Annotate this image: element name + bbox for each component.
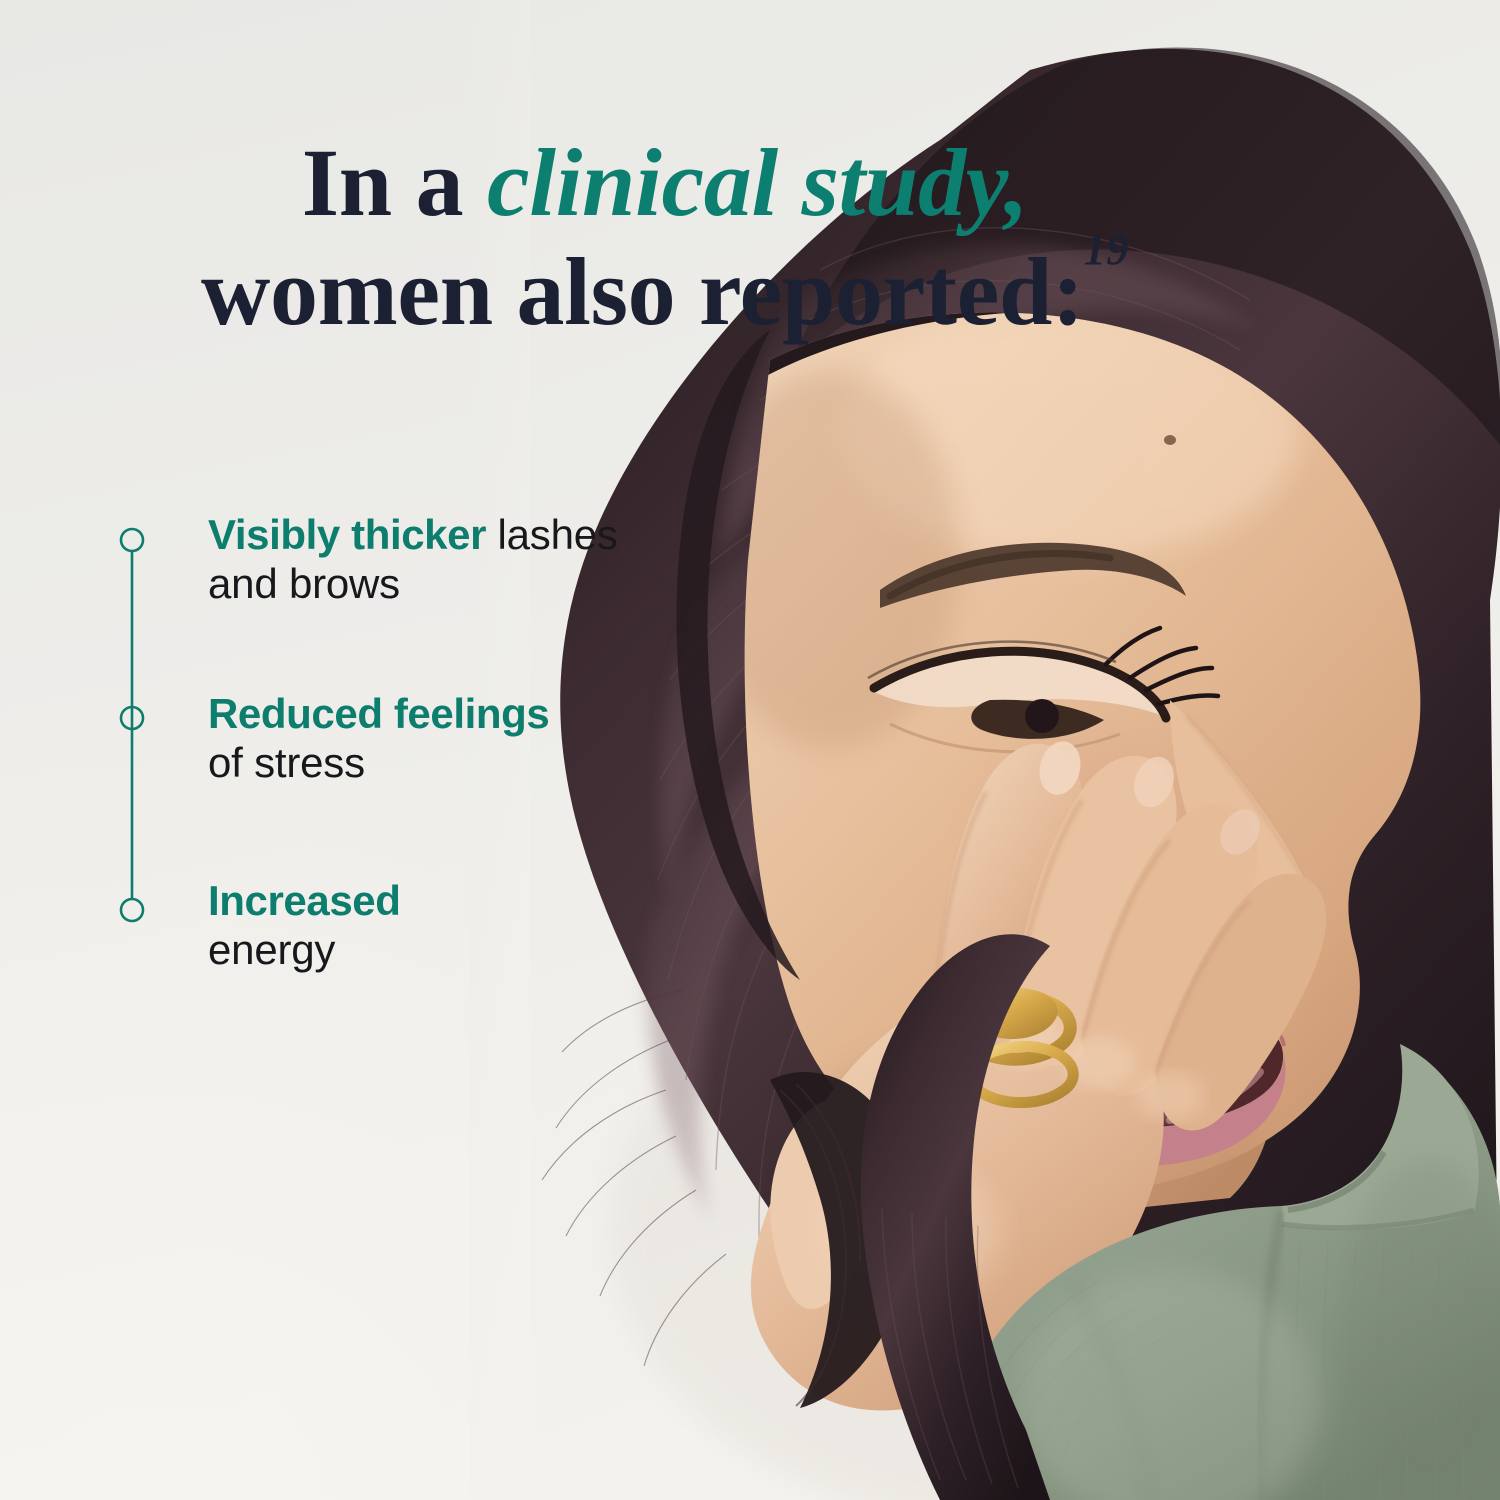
timeline-rail	[119, 516, 145, 936]
benefits-list: Visibly thicker lashes and brows Reduced…	[0, 0, 760, 1500]
benefit-strong-2: Increased	[208, 877, 401, 924]
list-item: Reduced feelings of stress	[208, 690, 798, 787]
footnote-marker: 19	[1084, 225, 1129, 274]
timeline-rail-graphic	[119, 516, 145, 936]
benefit-line2-0: and brows	[208, 560, 798, 609]
list-item: Increased energy	[208, 877, 798, 974]
benefit-line2-2: energy	[208, 926, 798, 975]
benefit-strong-0: Visibly thicker	[208, 511, 486, 558]
benefit-strong-1: Reduced feelings	[208, 690, 549, 737]
circle-node-icon	[121, 899, 143, 921]
promo-banner: In a clinical study, women also reported…	[0, 0, 1500, 1500]
benefit-rest-0: lashes	[486, 511, 618, 558]
circle-node-icon	[121, 529, 143, 551]
benefit-line2-1: of stress	[208, 739, 798, 788]
list-item: Visibly thicker lashes and brows	[208, 511, 798, 608]
